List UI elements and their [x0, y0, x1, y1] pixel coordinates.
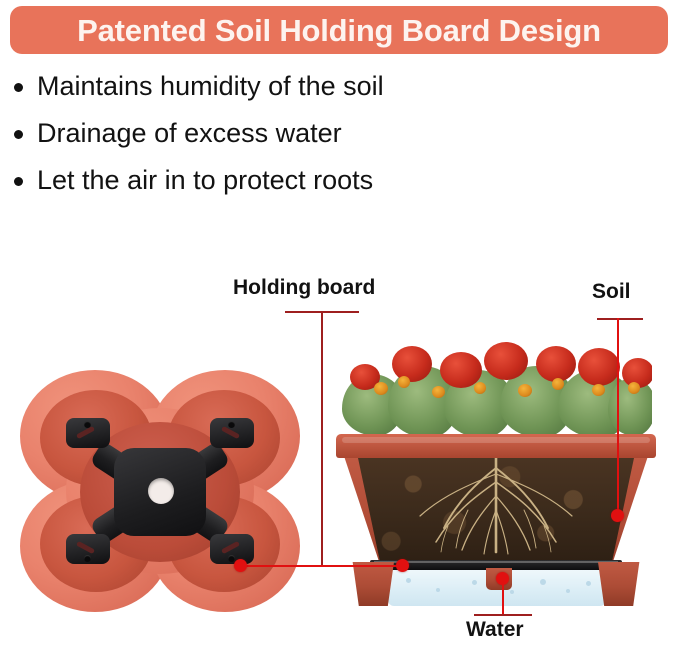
flower-bud — [398, 376, 410, 388]
flower-bud — [592, 384, 605, 396]
infographic-page: Patented Soil Holding Board Design Maint… — [0, 0, 679, 652]
feature-list: Maintains humidity of the soil Drainage … — [14, 70, 574, 211]
board-hole-bottom-left — [84, 555, 91, 562]
list-item: Drainage of excess water — [14, 117, 574, 164]
callout-label-holding-board: Holding board — [233, 276, 375, 300]
flower-bed — [340, 332, 652, 440]
callout-label-water: Water — [466, 618, 524, 642]
bullet-dot-icon — [14, 83, 23, 92]
flower-bud — [374, 382, 388, 395]
board-hole-top-left — [84, 421, 91, 428]
holding-board-marker-left — [234, 559, 247, 572]
root-system — [358, 456, 634, 560]
list-item: Let the air in to protect roots — [14, 164, 574, 211]
water-sparkle — [510, 590, 514, 594]
water-sparkle — [436, 588, 440, 592]
planter-foot-right — [598, 562, 642, 606]
water-sparkle — [472, 580, 477, 585]
feature-text: Maintains humidity of the soil — [37, 70, 384, 103]
planter-rim-highlight — [342, 437, 650, 443]
holding-board-highlight — [374, 561, 618, 563]
flower-bud — [474, 382, 486, 394]
flower-bloom — [536, 346, 576, 382]
flower-bloom — [484, 342, 528, 380]
water-sparkle — [586, 581, 591, 586]
bullet-dot-icon — [14, 177, 23, 186]
feature-text: Let the air in to protect roots — [37, 164, 373, 197]
flower-bud — [628, 382, 640, 394]
feature-text: Drainage of excess water — [37, 117, 342, 150]
header-banner: Patented Soil Holding Board Design — [10, 6, 668, 54]
water-leader-vertical — [502, 578, 504, 616]
flower-bud — [518, 384, 532, 397]
bullet-dot-icon — [14, 130, 23, 139]
flower-bud — [552, 378, 564, 390]
soil-leader-cap — [597, 318, 643, 320]
soil-marker — [611, 509, 624, 522]
planter-cross-section — [336, 330, 656, 610]
holding-board-x-frame — [58, 412, 262, 572]
page-title: Patented Soil Holding Board Design — [77, 15, 601, 46]
planter-foot-left — [350, 562, 394, 606]
soil-leader-vertical — [617, 318, 619, 516]
board-hole-top-right — [228, 421, 235, 428]
planter-top-view — [18, 368, 302, 614]
holding-board-marker-right — [396, 559, 409, 572]
water-sparkle — [566, 589, 570, 593]
water-sparkle — [406, 578, 411, 583]
water-sparkle — [540, 579, 546, 585]
water-leader-cap — [474, 614, 532, 616]
flower-bud — [432, 386, 445, 398]
holding-board-leader-horizontal — [240, 565, 408, 567]
list-item: Maintains humidity of the soil — [14, 70, 574, 117]
flower-bloom — [392, 346, 432, 382]
board-center-drain-hole — [148, 478, 174, 504]
board-hole-bottom-right — [228, 555, 235, 562]
callout-label-soil: Soil — [592, 280, 631, 304]
flower-bloom — [578, 348, 620, 386]
holding-board-leader-vertical — [321, 311, 323, 566]
